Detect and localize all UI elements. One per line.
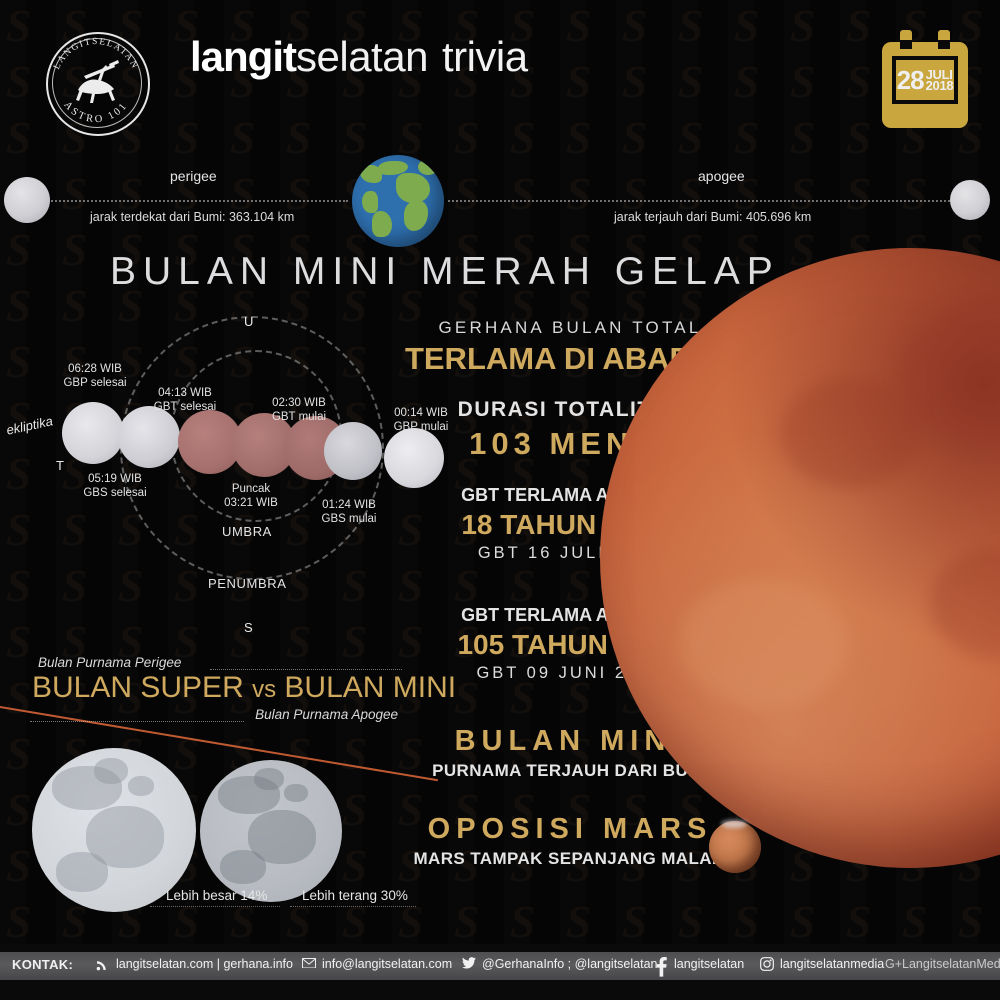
footer-item-label: G+LangitselatanMedia [885,957,1000,971]
twitter-icon [462,957,476,971]
umbra-label: UMBRA [222,524,272,539]
axis-label-south: S [244,620,253,635]
phase-label-gbs-selesai: 05:19 WIBGBS selesai [60,472,170,500]
perigee-distance: jarak terdekat dari Bumi: 363.104 km [90,210,294,224]
infographic-canvas: SSSSSSSSSSSSSSSSSSSSSSSSSSSSSSSSSSSSSSSS… [0,0,1000,1000]
email-icon [302,957,316,971]
phase-label-gbt-mulai: 02:30 WIBGBT mulai [244,396,354,424]
page-title: langitselatantrivia [190,34,528,80]
eclipse-peak-label: Puncak03:21 WIB [196,482,306,510]
footer-item-twitter[interactable]: @GerhanaInfo ; @langitselatan [462,957,657,971]
phase-label-gbt-selesai: 04:13 WIBGBT selesai [130,386,240,414]
footer-item-website[interactable]: langitselatan.com | gerhana.info [96,957,293,971]
main-headline: BULAN MINI MERAH GELAP [110,250,780,294]
brand-logo: LANGITSELATAN ASTRO 101 [28,24,164,132]
sagittarius-centaur-icon [68,56,124,108]
footer-item-googleplus[interactable]: G+LangitselatanMedia [885,957,1000,971]
calendar-year: 2018 [926,80,954,91]
calendar-day: 28 [897,69,924,91]
perigee-label: perigee [170,168,217,184]
contact-footer: KONTAK: langitselatan.com | gerhana.info… [0,944,1000,1000]
eclipse-path-diagram: U S T B 06:28 WIBGBP selesai 05:19 WIBGB… [0,300,470,660]
footer-item-label: @GerhanaInfo ; @langitselatan [482,957,657,971]
footer-label: KONTAK: [12,957,73,972]
orbit-distance-row: perigee jarak terdekat dari Bumi: 363.10… [0,160,1000,244]
title-bold: langit [190,33,296,80]
footer-item-email[interactable]: info@langitselatan.com [302,957,452,971]
calendar-icon: 28 JULI 2018 [878,28,972,132]
compare-title-a: BULAN SUPER [32,671,244,704]
compare-title: BULAN SUPER vs BULAN MINI [32,671,456,705]
penumbra-label: PENUMBRA [208,576,286,591]
facebook-icon [654,957,668,971]
apogee-distance: jarak terjauh dari Bumi: 405.696 km [614,210,811,224]
moon-phase-0 [384,428,444,488]
axis-label-north: U [244,314,253,329]
axis-label-west: T [56,458,64,473]
compare-title-vs: vs [252,676,276,703]
micromoon-illustration [200,760,342,902]
stat-brighter: Lebih terang 30% [302,888,408,903]
moon-icon-perigee [4,177,50,223]
moon-icon-apogee [950,180,990,220]
moon-phase-5 [118,406,180,468]
stat-bigger: Lebih besar 14% [166,888,267,903]
footer-item-instagram[interactable]: langitselatanmedia [760,957,884,971]
footer-item-label: langitselatanmedia [780,957,884,971]
footer-item-label: info@langitselatan.com [322,957,452,971]
moon-phase-6 [62,402,124,464]
rss-icon [96,957,110,971]
compare-title-b: BULAN MINI [284,671,456,704]
phase-label-gbs-mulai: 01:24 WIBGBS mulai [294,498,404,526]
mars-icon [709,821,761,873]
footer-item-label: langitselatan.com | gerhana.info [116,957,293,971]
footer-item-facebook[interactable]: langitselatan [654,957,744,971]
footer-item-label: langitselatan [674,957,744,971]
supermoon-vs-micromoon-header: Bulan Purnama Perigee BULAN SUPER vs BUL… [30,655,400,725]
compare-bottom-caption: Bulan Purnama Apogee [255,707,398,722]
instagram-icon [760,957,774,971]
apogee-label: apogee [698,168,745,184]
phase-label-gbp-mulai: 00:14 WIBGBP mulai [366,406,476,434]
title-word: trivia [442,33,528,80]
title-light: selatan [296,33,428,80]
compare-top-caption: Bulan Purnama Perigee [38,655,181,670]
